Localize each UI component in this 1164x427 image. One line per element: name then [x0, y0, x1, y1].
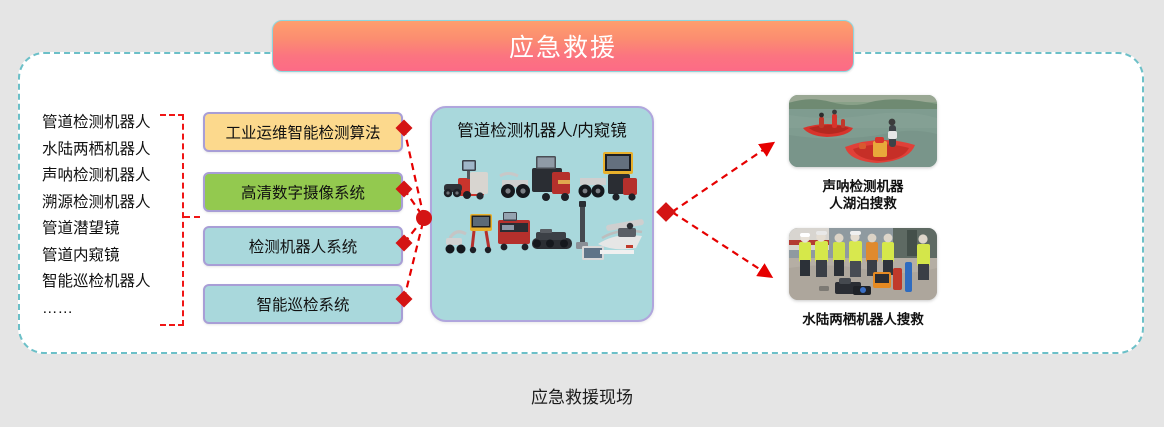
photo-sonar-lake-rescue-image: [789, 95, 937, 167]
option-box-inspection-system[interactable]: 智能巡检系统: [203, 284, 403, 324]
center-panel-caption: 管道检测机器人/内窥镜: [432, 117, 652, 141]
list-bracket: [160, 114, 184, 326]
photo-sonar-lake-rescue[interactable]: [789, 95, 937, 167]
photo-caption-line: 人湖泊搜救: [768, 195, 958, 212]
option-box-label: 智能巡检系统: [256, 293, 349, 315]
list-bracket-stub: [184, 216, 200, 218]
photo-amphibious-robot-rescue-image: [789, 228, 937, 300]
robot-gallery-image: [440, 146, 648, 276]
center-panel[interactable]: 管道检测机器人/内窥镜: [430, 106, 654, 322]
option-box-label: 检测机器人系统: [249, 235, 358, 257]
photo-caption-sonar-lake-rescue: 声呐检测机器 人湖泊搜救: [768, 178, 958, 212]
title-banner: 应急救援: [272, 20, 854, 72]
option-box-label: 工业运维智能检测算法: [225, 121, 380, 143]
option-box-label: 高清数字摄像系统: [241, 181, 365, 203]
bottom-caption: 应急救援现场: [0, 383, 1164, 408]
photo-caption-line: 水陆两栖机器人搜救: [768, 311, 958, 328]
option-box-algorithm[interactable]: 工业运维智能检测算法: [203, 112, 403, 152]
photo-caption-line: 声呐检测机器: [768, 178, 958, 195]
photo-amphibious-robot-rescue[interactable]: [789, 228, 937, 300]
option-box-camera-system[interactable]: 高清数字摄像系统: [203, 172, 403, 212]
slide-canvas: 应急救援 管道检测机器人 水陆两栖机器人 声呐检测机器人 溯源检测机器人 管道潜…: [0, 0, 1164, 427]
page-title: 应急救援: [509, 28, 617, 64]
photo-caption-amphibious-robot-rescue: 水陆两栖机器人搜救: [768, 311, 958, 328]
option-box-robot-system[interactable]: 检测机器人系统: [203, 226, 403, 266]
